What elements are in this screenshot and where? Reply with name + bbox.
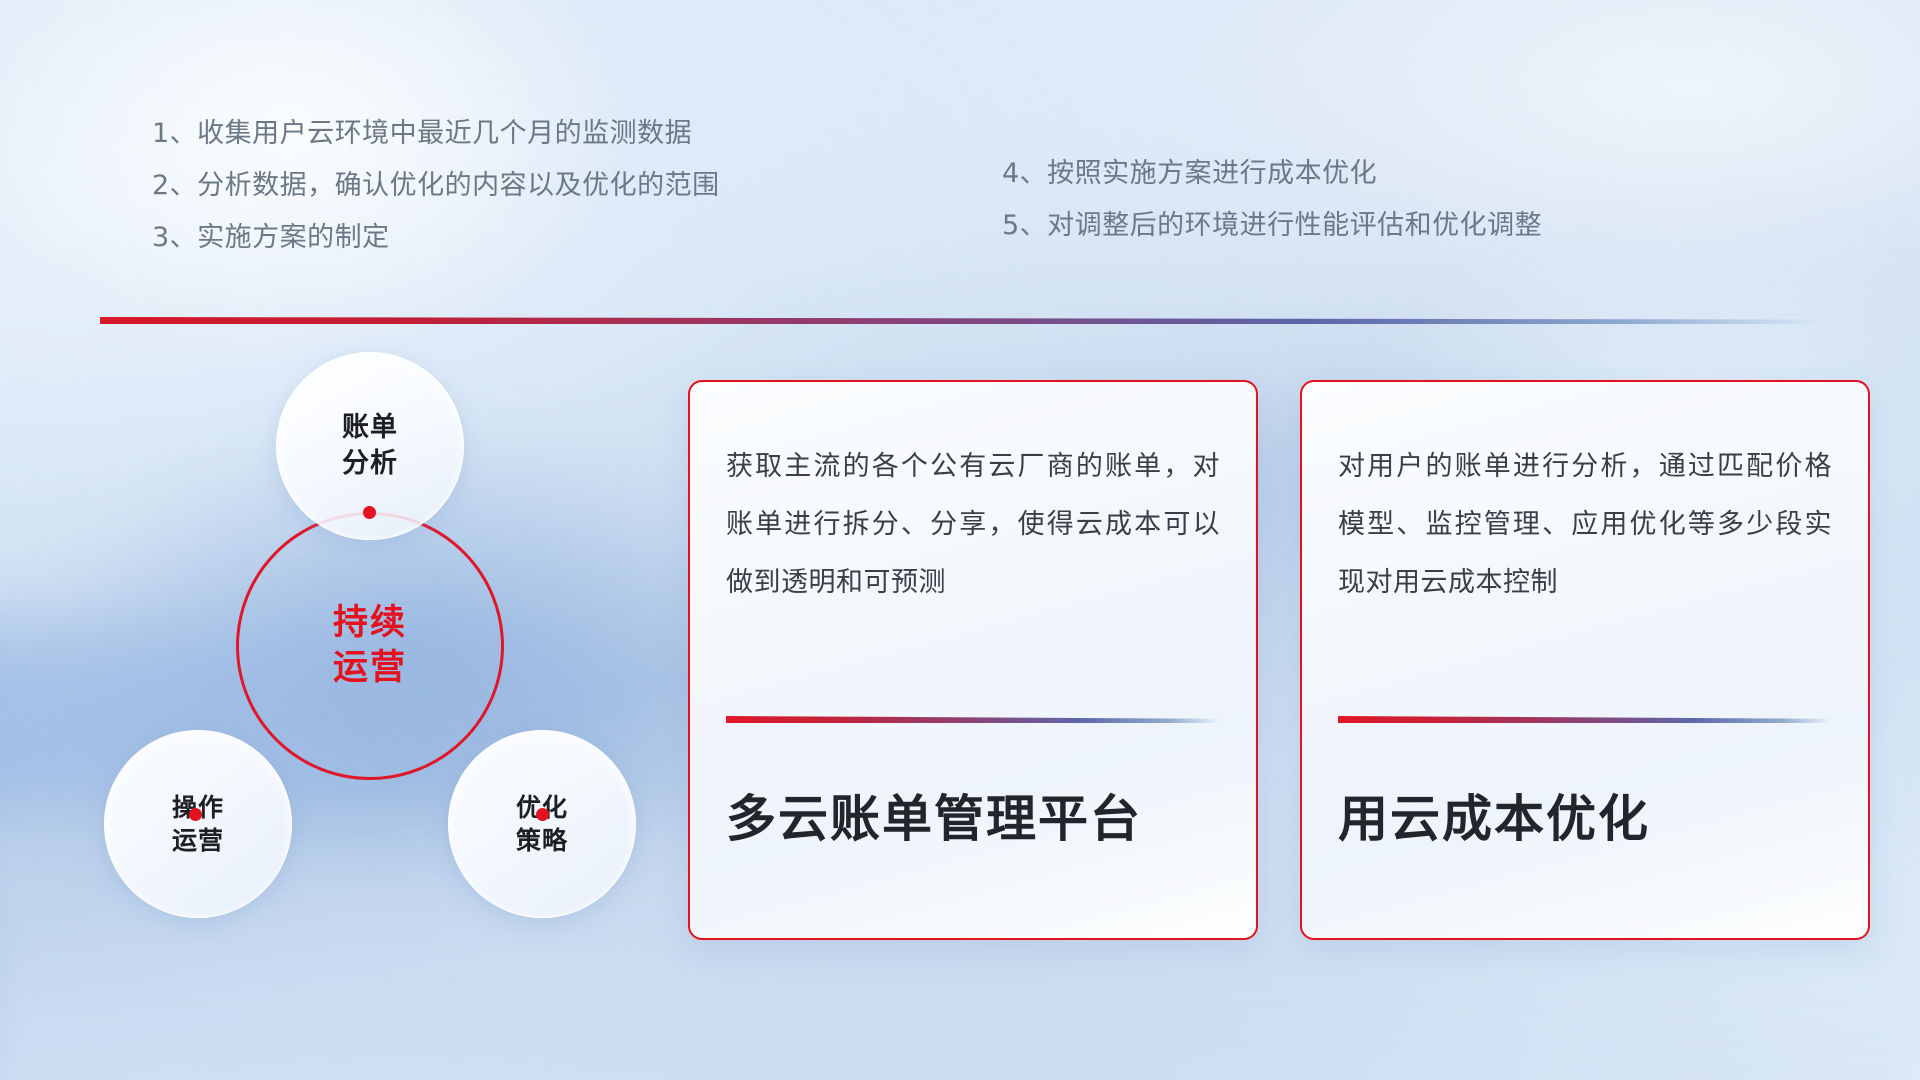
venn-bubble-right-line2: 策略: [516, 826, 568, 855]
steps-right-column: 4、按照实施方案进行成本优化 5、对调整后的环境进行性能评估和优化调整: [1002, 148, 1542, 252]
feature-card-1-divider: [726, 716, 1220, 723]
step-item-3: 3、实施方案的制定: [152, 212, 720, 264]
feature-card-2-divider: [1338, 716, 1832, 723]
venn-bubble-top-label: 账单 分析: [342, 410, 398, 482]
venn-center-line2: 运营: [333, 648, 407, 688]
feature-card-cloud-cost-optimization[interactable]: 对用户的账单进行分析，通过匹配价格模型、监控管理、应用优化等多少段实现对用云成本…: [1300, 380, 1870, 940]
venn-center-line1: 持续: [333, 603, 407, 643]
step-item-1: 1、收集用户云环境中最近几个月的监测数据: [152, 108, 720, 160]
venn-bubble-right-label: 优化 策略: [516, 791, 568, 858]
step-item-5: 5、对调整后的环境进行性能评估和优化调整: [1002, 200, 1542, 252]
steps-list: 1、收集用户云环境中最近几个月的监测数据 2、分析数据，确认优化的内容以及优化的…: [0, 108, 1760, 288]
venn-bubble-left-line2: 运营: [172, 826, 224, 855]
step-item-2: 2、分析数据，确认优化的内容以及优化的范围: [152, 160, 720, 212]
venn-node-dot-left: [189, 808, 202, 821]
venn-bubble-top-line2: 分析: [342, 448, 398, 479]
feature-card-1-title: 多云账单管理平台: [726, 779, 1220, 851]
venn-center-label: 持续 运营: [236, 512, 504, 780]
venn-bubble-top-line1: 账单: [342, 412, 398, 443]
venn-node-dot-top: [363, 506, 376, 519]
feature-card-multicloud-billing[interactable]: 获取主流的各个公有云厂商的账单，对账单进行拆分、分享，使得云成本可以做到透明和可…: [688, 380, 1258, 940]
venn-node-dot-right: [536, 808, 549, 821]
feature-card-2-body: 对用户的账单进行分析，通过匹配价格模型、监控管理、应用优化等多少段实现对用云成本…: [1338, 438, 1832, 698]
step-item-4: 4、按照实施方案进行成本优化: [1002, 148, 1542, 200]
steps-left-column: 1、收集用户云环境中最近几个月的监测数据 2、分析数据，确认优化的内容以及优化的…: [152, 108, 720, 264]
venn-diagram: 账单 分析 操作 运营 优化 策略 持续 运营: [96, 352, 656, 952]
feature-card-1-body: 获取主流的各个公有云厂商的账单，对账单进行拆分、分享，使得云成本可以做到透明和可…: [726, 438, 1220, 698]
feature-card-2-title: 用云成本优化: [1338, 779, 1832, 851]
venn-bubble-left-label: 操作 运营: [172, 791, 224, 858]
